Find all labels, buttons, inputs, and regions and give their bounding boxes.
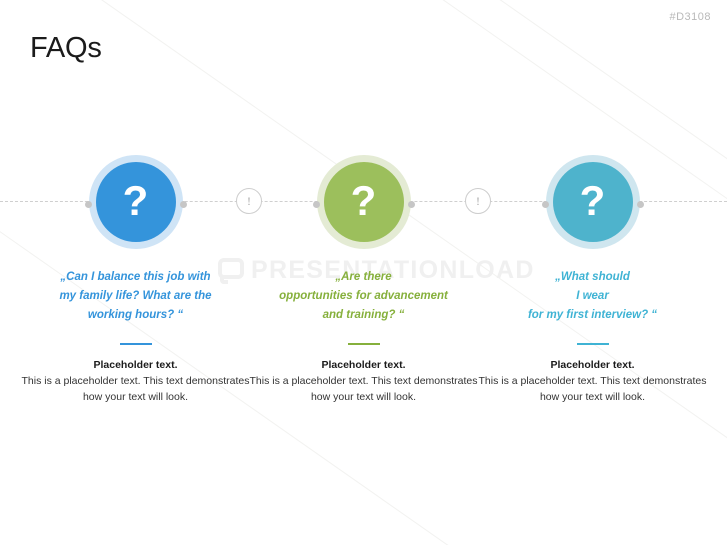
quote-line: „Can I balance this job with [21, 268, 250, 287]
quote-line: „What should [478, 268, 707, 287]
faq-divider-2 [348, 343, 380, 345]
body-text: This is a placeholder text. This text de… [249, 374, 478, 405]
faq-circle-1[interactable]: ? [89, 155, 183, 249]
question-mark-icon: ? [580, 180, 606, 222]
timeline-connector-1: ! [236, 188, 262, 214]
quote-line: working hours? “ [21, 306, 250, 325]
timeline-nub-left-1 [85, 201, 92, 208]
faq-columns: ? „Can I balance this job with my family… [0, 0, 727, 545]
faq-divider-1 [120, 343, 152, 345]
exclamation-circle-icon: ! [476, 195, 480, 207]
body-heading: Placeholder text. [21, 357, 250, 373]
timeline-nub-left-2 [313, 201, 320, 208]
slide-canvas: #D3108 FAQs PRESENTATIONLOAD ! ! ? [0, 0, 727, 545]
faq-quote-2: „Are there opportunities for advancement… [249, 268, 478, 325]
circle-core-1: ? [96, 162, 176, 242]
timeline-nub-right-3 [637, 201, 644, 208]
circle-core-2: ? [324, 162, 404, 242]
faq-quote-1: „Can I balance this job with my family l… [21, 268, 250, 325]
body-text: This is a placeholder text. This text de… [478, 374, 707, 405]
question-mark-icon: ? [351, 180, 377, 222]
faq-body-1: Placeholder text. This is a placeholder … [21, 357, 250, 405]
faq-body-3: Placeholder text. This is a placeholder … [478, 357, 707, 405]
question-mark-icon: ? [123, 180, 149, 222]
quote-line: and training? “ [249, 306, 478, 325]
faq-quote-3: „What should I wear for my first intervi… [478, 268, 707, 325]
slide-id-label: #D3108 [669, 11, 711, 23]
body-heading: Placeholder text. [249, 357, 478, 373]
quote-line: for my first interview? “ [478, 306, 707, 325]
circle-core-3: ? [553, 162, 633, 242]
page-title: FAQs [30, 32, 102, 65]
timeline-nub-left-3 [542, 201, 549, 208]
body-text: This is a placeholder text. This text de… [21, 374, 250, 405]
timeline-connector-2: ! [465, 188, 491, 214]
faq-circle-2[interactable]: ? [317, 155, 411, 249]
faq-divider-3 [577, 343, 609, 345]
quote-line: opportunities for advancement [249, 287, 478, 306]
quote-line: I wear [478, 287, 707, 306]
quote-line: my family life? What are the [21, 287, 250, 306]
timeline-nub-right-2 [408, 201, 415, 208]
timeline-nub-right-1 [180, 201, 187, 208]
faq-body-2: Placeholder text. This is a placeholder … [249, 357, 478, 405]
exclamation-circle-icon: ! [247, 195, 251, 207]
body-heading: Placeholder text. [478, 357, 707, 373]
faq-circle-3[interactable]: ? [546, 155, 640, 249]
quote-line: „Are there [249, 268, 478, 287]
